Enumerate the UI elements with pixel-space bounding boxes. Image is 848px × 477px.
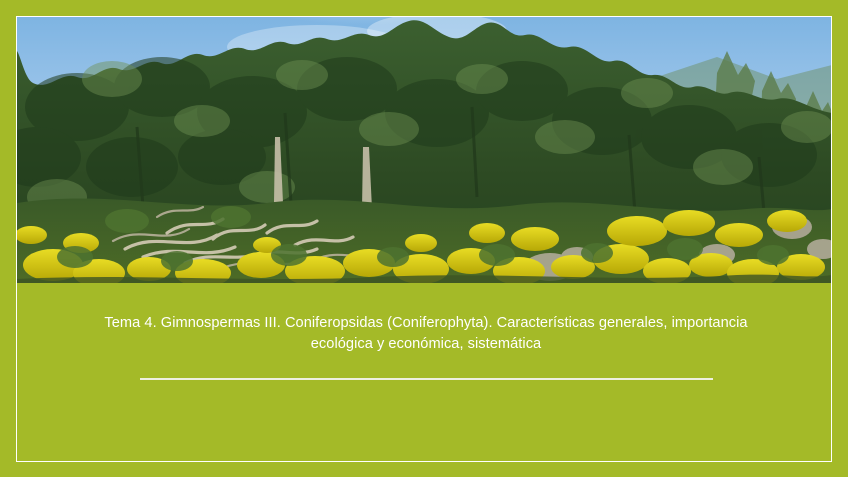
title-divider-rule bbox=[140, 378, 713, 380]
forest-photo-illustration bbox=[17, 17, 832, 283]
page-title: Tema 4. Gimnospermas III. Coniferopsidas… bbox=[76, 313, 776, 355]
presentation-slide: Tema 4. Gimnospermas III. Coniferopsidas… bbox=[0, 0, 848, 477]
title-area: Tema 4. Gimnospermas III. Coniferopsidas… bbox=[18, 284, 832, 462]
slide-banner-photo bbox=[17, 17, 832, 283]
